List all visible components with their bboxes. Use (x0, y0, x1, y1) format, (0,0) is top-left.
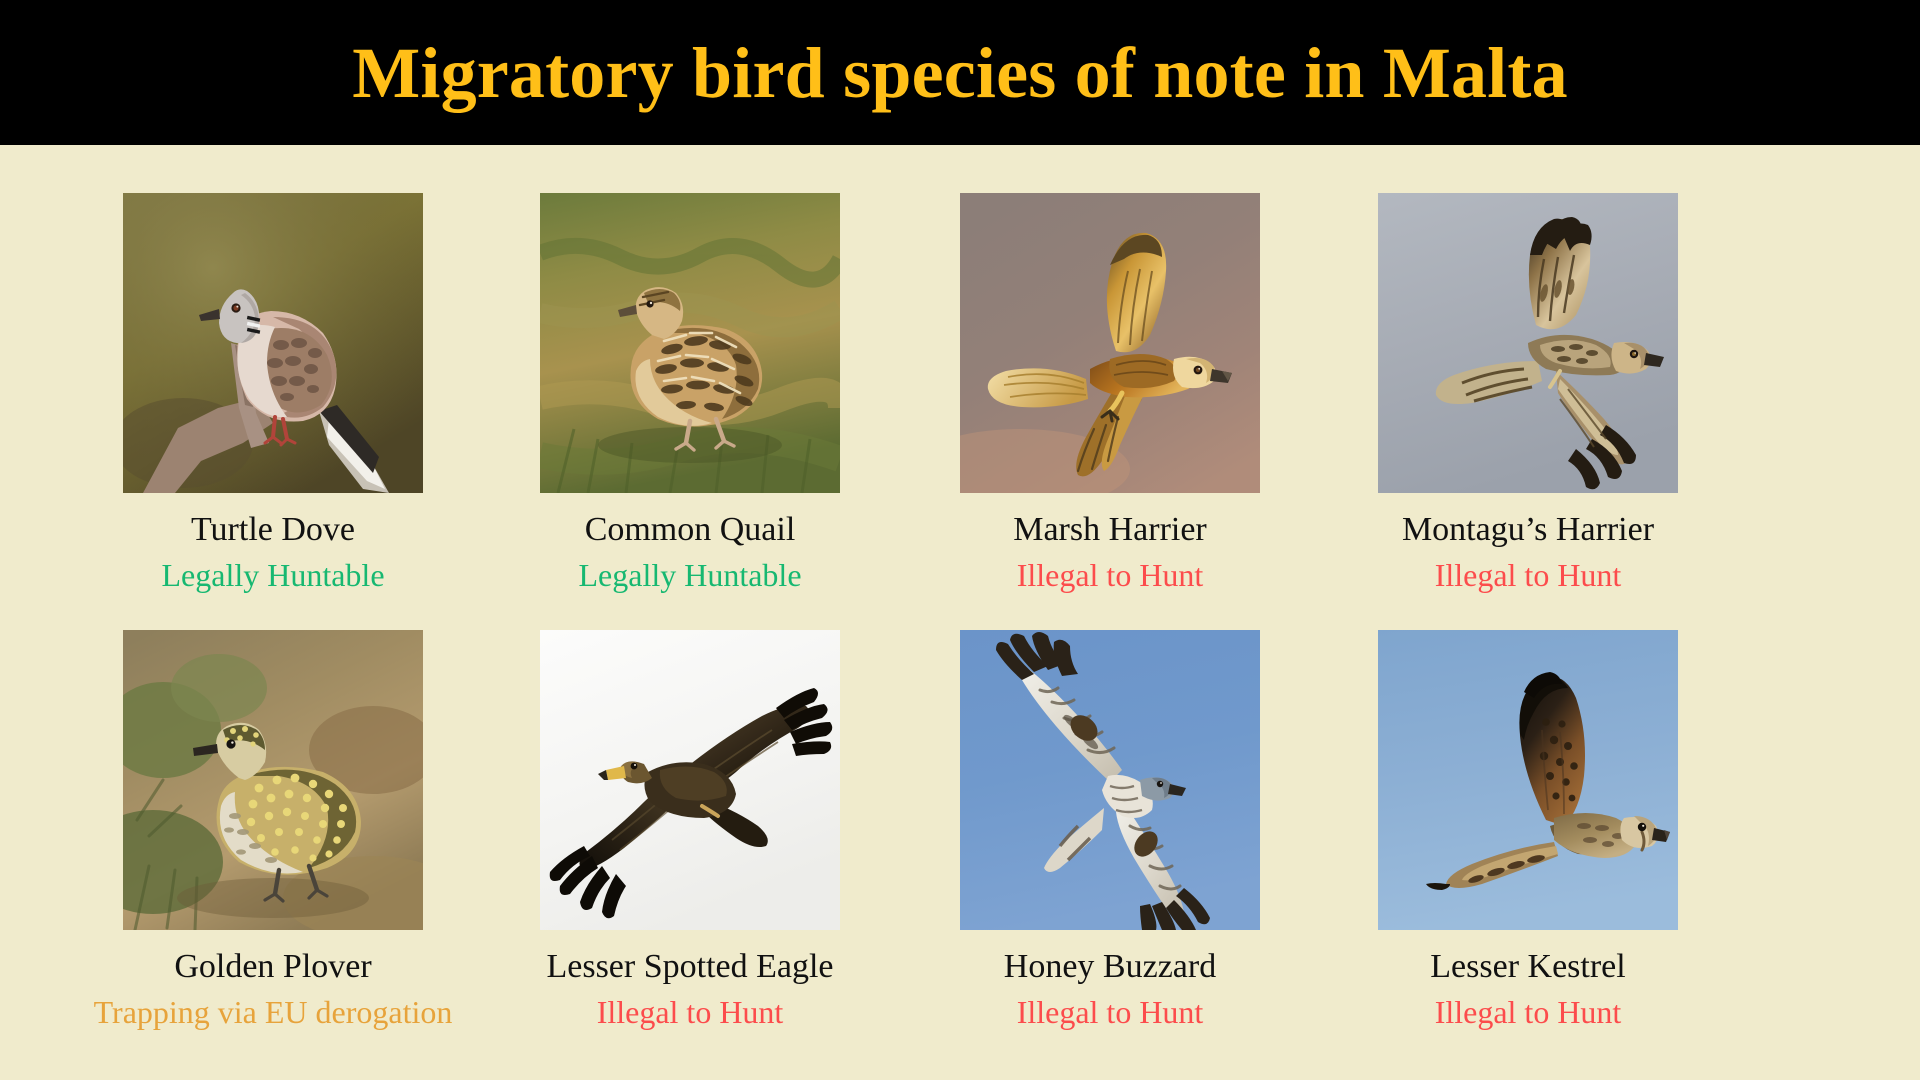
species-status: Illegal to Hunt (1318, 994, 1738, 1032)
species-status: Trapping via EU derogation (63, 994, 483, 1032)
marsh-harrier-photo (960, 193, 1260, 493)
lesser-kestrel-photo (1378, 630, 1678, 930)
species-name: Turtle Dove (63, 510, 483, 550)
species-card-lesser-spotted-eagle[interactable]: Lesser Spotted Eagle Illegal to Hunt (480, 630, 900, 1032)
honey-buzzard-photo (960, 630, 1260, 930)
species-status: Illegal to Hunt (900, 557, 1320, 595)
species-card-turtle-dove[interactable]: Turtle Dove Legally Huntable (63, 193, 483, 595)
species-card-marsh-harrier[interactable]: Marsh Harrier Illegal to Hunt (900, 193, 1320, 595)
title-banner: Migratory bird species of note in Malta (0, 0, 1920, 145)
turtle-dove-photo (123, 193, 423, 493)
species-card-honey-buzzard[interactable]: Honey Buzzard Illegal to Hunt (900, 630, 1320, 1032)
species-status: Legally Huntable (63, 557, 483, 595)
species-name: Common Quail (480, 510, 900, 550)
species-name: Golden Plover (63, 947, 483, 987)
species-name: Marsh Harrier (900, 510, 1320, 550)
species-card-golden-plover[interactable]: Golden Plover Trapping via EU derogation (63, 630, 483, 1032)
lesser-spotted-eagle-photo (540, 630, 840, 930)
species-name: Lesser Kestrel (1318, 947, 1738, 987)
species-status: Illegal to Hunt (900, 994, 1320, 1032)
species-status: Legally Huntable (480, 557, 900, 595)
species-status: Illegal to Hunt (1318, 557, 1738, 595)
species-status: Illegal to Hunt (480, 994, 900, 1032)
page-title: Migratory bird species of note in Malta (352, 37, 1568, 109)
species-grid: Turtle Dove Legally Huntable (0, 145, 1920, 1080)
species-card-montagus-harrier[interactable]: Montagu’s Harrier Illegal to Hunt (1318, 193, 1738, 595)
species-name: Lesser Spotted Eagle (480, 947, 900, 987)
species-card-lesser-kestrel[interactable]: Lesser Kestrel Illegal to Hunt (1318, 630, 1738, 1032)
golden-plover-photo (123, 630, 423, 930)
species-name: Montagu’s Harrier (1318, 510, 1738, 550)
montagus-harrier-photo (1378, 193, 1678, 493)
species-name: Honey Buzzard (900, 947, 1320, 987)
common-quail-photo (540, 193, 840, 493)
species-card-common-quail[interactable]: Common Quail Legally Huntable (480, 193, 900, 595)
